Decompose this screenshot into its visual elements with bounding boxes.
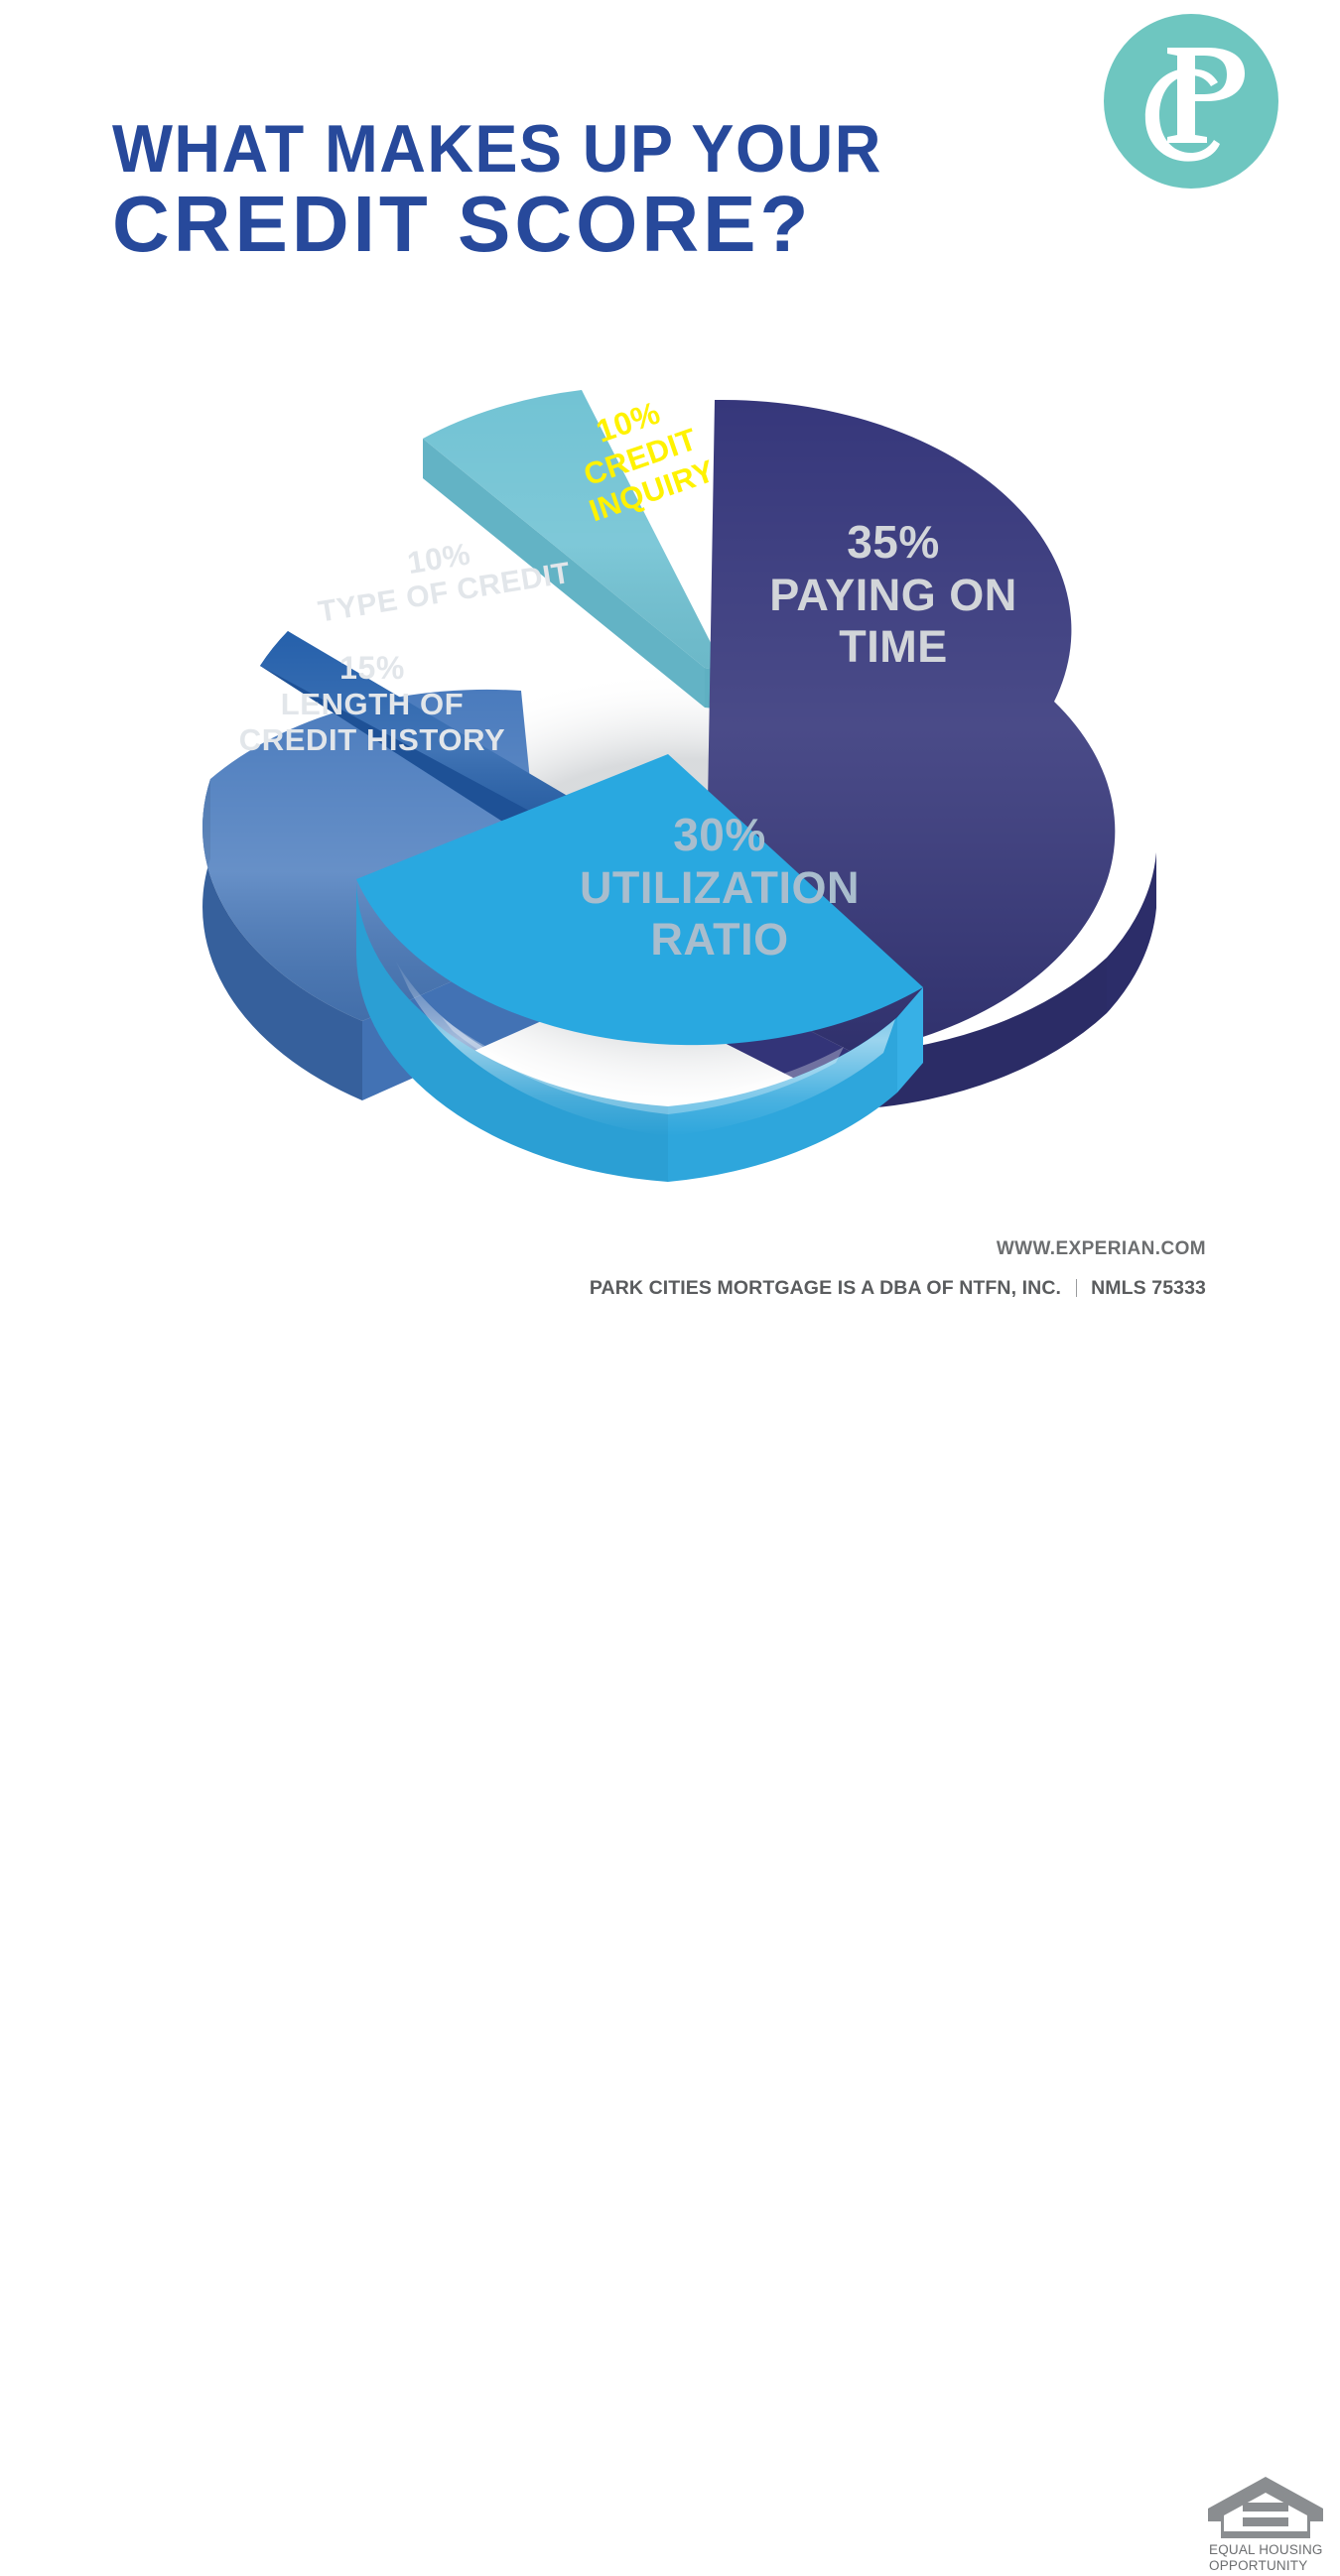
footer-text-block: WWW.EXPERIAN.COM PARK CITIES MORTGAGE IS…	[590, 1238, 1206, 1300]
equal-housing-house-icon	[1205, 2475, 1326, 2540]
brand-logo	[1104, 14, 1278, 189]
page-title: WHAT MAKES UP YOUR CREDIT SCORE?	[112, 117, 1005, 265]
legal-disclosure: PARK CITIES MORTGAGE IS A DBA OF NTFN, I…	[590, 1277, 1206, 1300]
legal-divider	[1076, 1279, 1077, 1297]
legal-dba-text: PARK CITIES MORTGAGE IS A DBA OF NTFN, I…	[590, 1277, 1061, 1299]
pc-monogram-logo-icon	[1104, 14, 1278, 189]
experian-url[interactable]: WWW.EXPERIAN.COM	[590, 1238, 1206, 1260]
credit-score-pie-chart: 35% PAYING ON TIME 30% UTILIZATION RATIO…	[189, 352, 1231, 1146]
pie-slice-credit-inquiry[interactable]	[423, 390, 725, 709]
pie-chart-svg	[189, 352, 1231, 1146]
page-title-line-1: WHAT MAKES UP YOUR	[112, 117, 961, 182]
page-title-line-2: CREDIT SCORE?	[112, 184, 1005, 265]
footer: WWW.EXPERIAN.COM PARK CITIES MORTGAGE IS…	[0, 1238, 1340, 1340]
legal-nmls-text: NMLS 75333	[1091, 1277, 1206, 1299]
equal-housing-text: EQUAL HOUSING OPPORTUNITY	[1209, 2542, 1326, 2574]
equal-housing-line-1: EQUAL HOUSING	[1209, 2542, 1326, 2558]
equal-housing-logo: EQUAL HOUSING OPPORTUNITY	[1205, 2475, 1326, 2576]
equal-housing-line-2: OPPORTUNITY	[1209, 2558, 1326, 2574]
